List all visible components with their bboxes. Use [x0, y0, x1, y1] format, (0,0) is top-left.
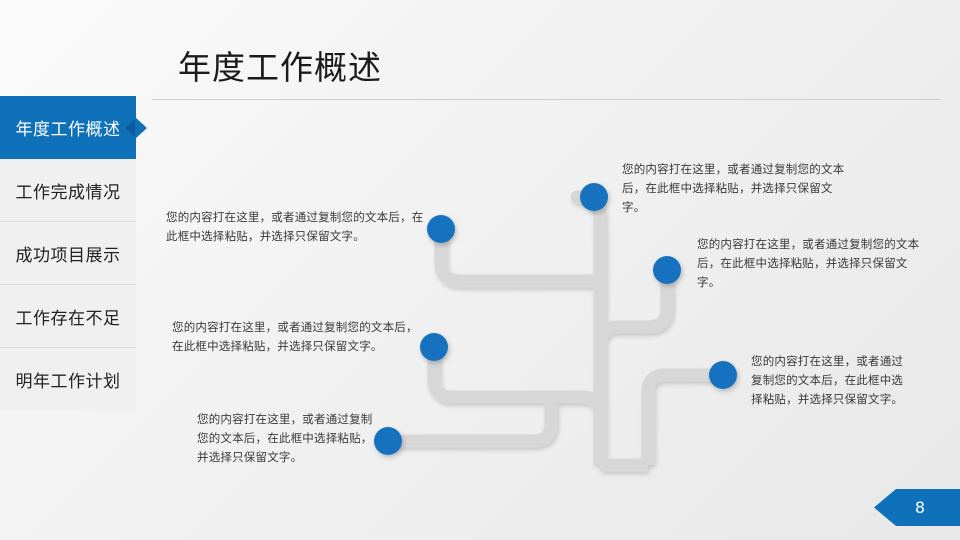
text-block-middle-right: 您的内容打在这里，或者通过复制您的文本后，在此框中选择粘贴，并选择只保留文字。 [697, 235, 929, 292]
branch-top-left [441, 229, 600, 281]
sidebar-item-work-completion[interactable]: 工作完成情况 [0, 159, 136, 222]
slide-canvas: 年度工作概述 工作完成情况 成功项目展示 工作存在不足 明年工作计划 年度工作概… [0, 0, 960, 540]
text-block-bottom-right: 您的内容打在这里，或者通过复制您的文本后，在此框中选择粘贴，并选择只保留文字。 [751, 352, 908, 409]
sidebar-item-label: 工作存在不足 [16, 304, 121, 329]
node-top-right[interactable] [580, 183, 608, 211]
branch-middle-left [434, 347, 600, 430]
sidebar-item-label: 年度工作概述 [16, 115, 121, 140]
branch-middle-right [600, 270, 667, 360]
text-block-top-right: 您的内容打在这里，或者通过复制您的文本后，在此框中选择粘贴，并选择只保留文字。 [622, 160, 850, 217]
sidebar-item-label: 成功项目展示 [16, 241, 121, 266]
branch-bottom-left [388, 400, 551, 441]
sidebar-item-successful-projects[interactable]: 成功项目展示 [0, 222, 136, 285]
sidebar-item-label: 工作完成情况 [16, 178, 121, 203]
text-block-bottom-left: 您的内容打在这里，或者通过复制您的文本后，在此框中选择粘贴，并选择只保留文字。 [197, 410, 380, 467]
sidebar-nav: 年度工作概述 工作完成情况 成功项目展示 工作存在不足 明年工作计划 [0, 96, 136, 411]
text-block-middle-left: 您的内容打在这里，或者通过复制您的文本后，在此框中选择粘贴，并选择只保留文字。 [172, 318, 428, 356]
sidebar-item-annual-overview[interactable]: 年度工作概述 [0, 96, 136, 159]
node-middle-right[interactable] [653, 256, 681, 284]
text-block-top-left: 您的内容打在这里，或者通过复制您的文本后，在此框中选择粘贴，并选择只保留文字。 [166, 208, 432, 246]
sidebar-item-shortcomings[interactable]: 工作存在不足 [0, 285, 136, 348]
page-number-label: 8 [915, 498, 925, 517]
node-bottom-right[interactable] [709, 361, 737, 389]
sidebar-item-label: 明年工作计划 [16, 367, 121, 392]
sidebar-item-next-year-plan[interactable]: 明年工作计划 [0, 348, 136, 411]
active-indicator-arrow-icon [135, 117, 147, 139]
branch-bottom-right [648, 375, 723, 465]
